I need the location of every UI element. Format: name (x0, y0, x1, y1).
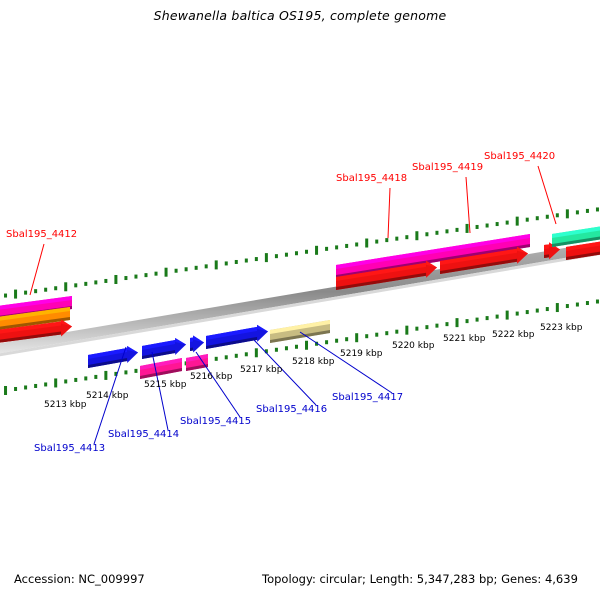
ruler-minor-tick (466, 319, 469, 323)
genome-stats-text: Topology: circular; Length: 5,347,283 bp… (262, 572, 578, 586)
gene-label-Sbal195_4419[interactable]: Sbal195_4419 (412, 162, 483, 173)
ruler-minor-tick (335, 339, 338, 343)
ruler-minor-tick (275, 254, 278, 258)
feature-pink-b[interactable] (186, 354, 208, 371)
gene-label-Sbal195_4412[interactable]: Sbal195_4412 (6, 229, 77, 240)
leader-line (388, 188, 390, 238)
ruler-minor-tick (385, 238, 388, 242)
ruler-tick-label: 5214 kbp (86, 391, 129, 401)
ruler-major-tick (54, 378, 57, 387)
ruler-minor-tick (235, 354, 238, 358)
ruler-minor-tick (576, 210, 579, 214)
ruler-tick-label: 5216 kbp (190, 372, 233, 382)
ruler-minor-tick (74, 283, 77, 287)
ruler-minor-tick (395, 330, 398, 334)
ruler-minor-tick (556, 213, 559, 217)
feature-blue-4413[interactable] (88, 346, 138, 368)
ruler-major-tick (265, 253, 268, 262)
ruler-ticks-lower (0, 296, 600, 395)
ruler-minor-tick (94, 375, 97, 379)
ruler-tick-label: 5213 kbp (44, 400, 87, 410)
feature-khaki-4417[interactable] (270, 320, 330, 343)
accession-text: Accession: NC_009997 (14, 572, 145, 586)
ruler-minor-tick (124, 370, 127, 374)
ruler-minor-tick (516, 312, 519, 316)
ruler-minor-tick (375, 333, 378, 337)
ruler-major-tick (14, 290, 17, 299)
ruler-minor-tick (205, 264, 208, 268)
ruler-major-tick (4, 386, 7, 395)
ruler-minor-tick (496, 315, 499, 319)
ruler-minor-tick (175, 269, 178, 273)
ruler-major-tick (305, 341, 308, 350)
ruler-major-tick (556, 303, 559, 312)
ruler-minor-tick (435, 231, 438, 235)
ruler-minor-tick (576, 303, 579, 307)
gene-label-Sbal195_4418[interactable]: Sbal195_4418 (336, 173, 407, 184)
ruler-minor-tick (506, 221, 509, 225)
ruler-minor-tick (24, 385, 27, 389)
ruler-minor-tick (225, 261, 228, 265)
ruler-minor-tick (365, 334, 368, 338)
ruler-minor-tick (325, 247, 328, 251)
ruler-minor-tick (14, 387, 17, 391)
ruler-minor-tick (44, 382, 47, 386)
ruler-major-tick (104, 371, 107, 380)
ruler-tick-label: 5220 kbp (392, 341, 435, 351)
ruler-minor-tick (335, 245, 338, 249)
ruler-major-tick (64, 282, 67, 291)
feature-pink-a[interactable] (140, 358, 182, 379)
ruler-minor-tick (215, 357, 218, 361)
ruler-minor-tick (235, 260, 238, 264)
ruler-major-tick (516, 217, 519, 226)
ruler-tick-label: 5223 kbp (540, 323, 583, 333)
ruler-minor-tick (4, 294, 7, 298)
ruler-major-tick (215, 260, 218, 269)
feature-blue-small[interactable] (190, 336, 204, 353)
ruler-major-tick (456, 318, 459, 327)
ruler-minor-tick (24, 291, 27, 295)
ruler-major-tick (315, 246, 318, 255)
ruler-minor-tick (536, 309, 539, 313)
feature-blue-4414[interactable] (142, 338, 186, 359)
ruler-minor-tick (385, 331, 388, 335)
gene-label-Sbal195_4415[interactable]: Sbal195_4415 (180, 416, 251, 427)
ruler-minor-tick (395, 237, 398, 241)
ruler-minor-tick (94, 280, 97, 284)
ruler-minor-tick (526, 218, 529, 222)
gene-label-Sbal195_4416[interactable]: Sbal195_4416 (256, 404, 327, 415)
ruler-minor-tick (345, 337, 348, 341)
ruler-minor-tick (134, 369, 137, 373)
ruler-major-tick (355, 333, 358, 342)
ruler-major-tick (566, 209, 569, 218)
ruler-tick-label: 5219 kbp (340, 349, 383, 359)
ruler-minor-tick (476, 318, 479, 322)
ruler-minor-tick (325, 340, 328, 344)
ruler-minor-tick (415, 327, 418, 331)
ruler-minor-tick (546, 215, 549, 219)
ruler-minor-tick (295, 345, 298, 349)
ruler-minor-tick (496, 222, 499, 226)
ruler-tick-label: 5215 kbp (144, 380, 187, 390)
ruler-minor-tick (566, 304, 569, 308)
ruler-minor-tick (435, 324, 438, 328)
ruler-minor-tick (596, 300, 599, 304)
ruler-minor-tick (586, 301, 589, 305)
ruler-minor-tick (34, 384, 37, 388)
ruler-minor-tick (425, 232, 428, 236)
ruler-minor-tick (526, 310, 529, 314)
leader-line (30, 244, 44, 295)
ruler-minor-tick (445, 229, 448, 233)
ruler-minor-tick (536, 216, 539, 220)
genome-viewer: Shewanella baltica OS195, complete genom… (0, 0, 600, 600)
ruler-major-tick (114, 275, 117, 284)
ruler-minor-tick (225, 355, 228, 359)
ruler-minor-tick (425, 325, 428, 329)
ruler-minor-tick (546, 307, 549, 311)
ruler-minor-tick (275, 348, 278, 352)
ruler-tick-labels: 5213 kbp5214 kbp5215 kbp5216 kbp5217 kbp… (44, 323, 583, 410)
ruler-minor-tick (84, 376, 87, 380)
gene-label-Sbal195_4413[interactable]: Sbal195_4413 (34, 443, 105, 454)
ruler-minor-tick (295, 251, 298, 255)
ruler-minor-tick (155, 272, 158, 276)
ruler-major-tick (466, 224, 469, 233)
ruler-minor-tick (44, 288, 47, 292)
ruler-minor-tick (134, 275, 137, 279)
ruler-minor-tick (195, 266, 198, 270)
ruler-tick-label: 5222 kbp (492, 330, 535, 340)
ruler-minor-tick (54, 286, 57, 290)
gene-label-Sbal195_4414[interactable]: Sbal195_4414 (108, 429, 179, 440)
gene-label-Sbal195_4417[interactable]: Sbal195_4417 (332, 392, 403, 403)
leader-line (196, 352, 240, 417)
ruler-minor-tick (305, 250, 308, 254)
ruler-major-tick (405, 326, 408, 335)
ruler-minor-tick (245, 259, 248, 263)
ruler-minor-tick (64, 379, 67, 383)
ruler-minor-tick (285, 253, 288, 257)
ruler-minor-tick (285, 346, 288, 350)
ruler-minor-tick (345, 244, 348, 248)
ruler-major-tick (255, 348, 258, 357)
gene-label-Sbal195_4420[interactable]: Sbal195_4420 (484, 151, 555, 162)
ruler-minor-tick (255, 257, 258, 261)
ruler-tick-label: 5221 kbp (443, 334, 486, 344)
ruler-minor-tick (375, 240, 378, 244)
ruler-minor-tick (124, 276, 127, 280)
ruler-minor-tick (486, 316, 489, 320)
ruler-minor-tick (144, 273, 147, 277)
ruler-minor-tick (355, 242, 358, 246)
ruler-minor-tick (586, 209, 589, 213)
ruler-minor-tick (405, 235, 408, 239)
ruler-minor-tick (456, 228, 459, 232)
ruler-minor-tick (34, 289, 37, 293)
ruler-tick-label: 5217 kbp (240, 365, 283, 375)
ruler-minor-tick (84, 282, 87, 286)
ruler-minor-tick (596, 207, 599, 211)
ruler-major-tick (415, 231, 418, 240)
ruler-minor-tick (245, 352, 248, 356)
ruler-major-tick (365, 239, 368, 248)
genome-map-canvas[interactable]: Sbal195_4412Sbal195_4418Sbal195_4419Sbal… (0, 0, 600, 600)
ruler-tick-label: 5218 kbp (292, 357, 335, 367)
ruler-minor-tick (486, 224, 489, 228)
ruler-minor-tick (445, 322, 448, 326)
ruler-minor-tick (476, 225, 479, 229)
ruler-minor-tick (74, 378, 77, 382)
ruler-major-tick (506, 311, 509, 320)
ruler-minor-tick (185, 267, 188, 271)
ruler-minor-tick (104, 279, 107, 283)
ruler-major-tick (165, 268, 168, 277)
